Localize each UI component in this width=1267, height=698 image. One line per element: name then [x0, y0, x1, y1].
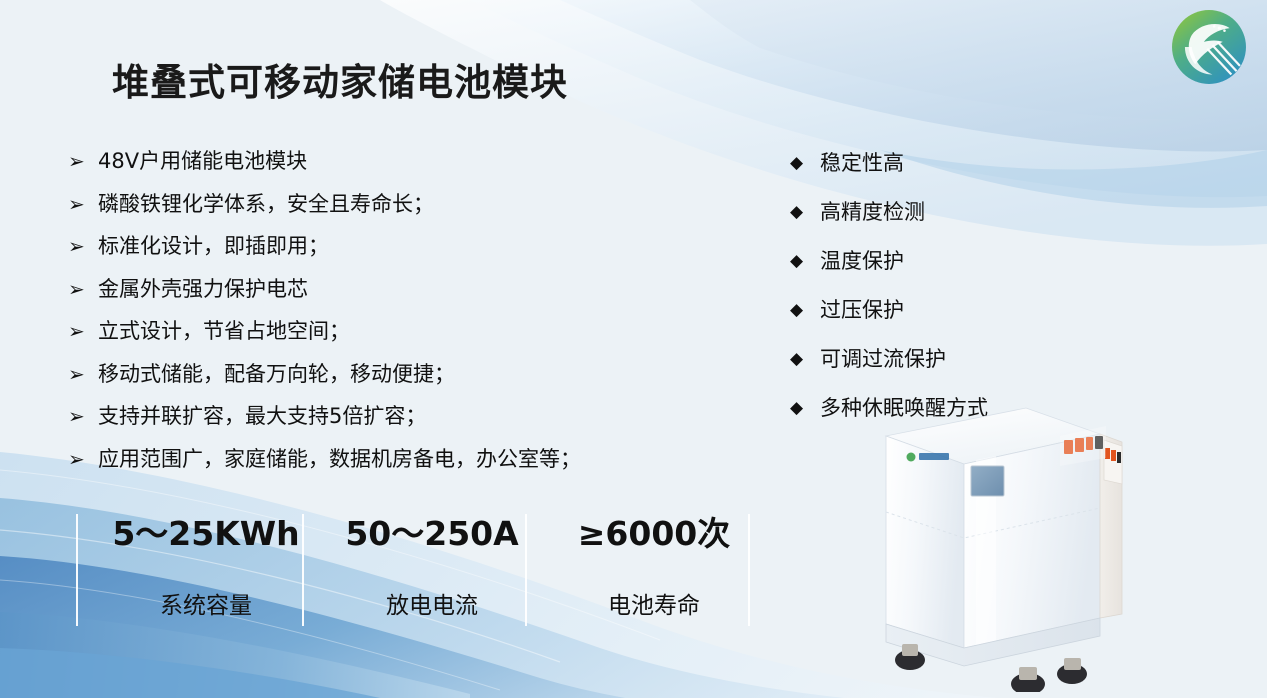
diamond-bullet-icon: ◆ [790, 148, 820, 178]
list-item: ➢ 支持并联扩容，最大支持5倍扩容； [68, 401, 708, 431]
list-item: ➢ 应用范围广，家庭储能，数据机房备电，办公室等； [68, 444, 708, 474]
arrow-bullet-icon: ➢ [68, 189, 98, 219]
spec-label: 电池寿命 [544, 586, 764, 626]
list-item: ◆ 高精度检测 [790, 197, 1080, 227]
diamond-bullet-icon: ◆ [790, 246, 820, 276]
list-item-label: 立式设计，节省占地空间； [98, 316, 350, 346]
specs-summary: 5～25KWh 系统容量 50～250A 放电电流 ≥6000次 电池寿命 [78, 508, 768, 626]
spec-value: ≥6000次 [544, 508, 764, 560]
arrow-bullet-icon: ➢ [68, 231, 98, 261]
arrow-bullet-icon: ➢ [68, 359, 98, 389]
list-item: ◆ 过压保护 [790, 295, 1080, 325]
list-item: ➢ 立式设计，节省占地空间； [68, 316, 708, 346]
diamond-bullet-icon: ◆ [790, 295, 820, 325]
page-title: 堆叠式可移动家储电池模块 [112, 52, 568, 106]
list-item: ➢ 移动式储能，配备万向轮，移动便捷； [68, 359, 708, 389]
spec-divider [748, 514, 750, 626]
list-item-label: 稳定性高 [820, 148, 904, 178]
slide-canvas: 堆叠式可移动家储电池模块 ➢ 48V户用储能电池模块 ➢ 磷酸铁锂化学体系，安全… [0, 0, 1267, 698]
diamond-bullet-icon: ◆ [790, 393, 820, 423]
list-item-label: 应用范围广，家庭储能，数据机房备电，办公室等； [98, 444, 581, 474]
list-item-label: 支持并联扩容，最大支持5倍扩容； [98, 401, 426, 431]
product-lcd-display [971, 466, 1004, 496]
list-item: ➢ 标准化设计，即插即用； [68, 231, 708, 261]
spec-label: 放电电流 [322, 586, 542, 626]
list-item-label: 过压保护 [820, 295, 904, 325]
spec-label: 系统容量 [96, 586, 316, 626]
list-item: ➢ 48V户用储能电池模块 [68, 146, 708, 176]
spec-value: 50～250A [322, 508, 542, 560]
spec-item-current: 50～250A 放电电流 [322, 508, 542, 626]
spec-divider [302, 514, 304, 626]
arrow-bullet-icon: ➢ [68, 146, 98, 176]
spec-divider [525, 514, 527, 626]
arrow-bullet-icon: ➢ [68, 401, 98, 431]
spec-value: 5～25KWh [96, 508, 316, 560]
arrow-bullet-icon: ➢ [68, 274, 98, 304]
list-item: ➢ 磷酸铁锂化学体系，安全且寿命长； [68, 189, 708, 219]
diamond-bullet-icon: ◆ [790, 197, 820, 227]
spec-item-cycle-life: ≥6000次 电池寿命 [544, 508, 764, 626]
diamond-bullet-icon: ◆ [790, 344, 820, 374]
arrow-bullet-icon: ➢ [68, 444, 98, 474]
spec-divider [76, 514, 78, 626]
list-item-label: 移动式储能，配备万向轮，移动便捷； [98, 359, 455, 389]
list-item: ◆ 可调过流保护 [790, 344, 1080, 374]
list-item-label: 磷酸铁锂化学体系，安全且寿命长； [98, 189, 434, 219]
list-item: ◆ 稳定性高 [790, 148, 1080, 178]
list-item-label: 金属外壳强力保护电芯 [98, 274, 308, 304]
list-item-label: 温度保护 [820, 246, 904, 276]
features-left-list: ➢ 48V户用储能电池模块 ➢ 磷酸铁锂化学体系，安全且寿命长； ➢ 标准化设计… [68, 146, 708, 486]
list-item-label: 标准化设计，即插即用； [98, 231, 329, 261]
product-image-battery-cabinet [876, 392, 1126, 692]
list-item-label: 高精度检测 [820, 197, 925, 227]
list-item-label: 可调过流保护 [820, 344, 946, 374]
list-item-label: 48V户用储能电池模块 [98, 146, 307, 176]
list-item: ➢ 金属外壳强力保护电芯 [68, 274, 708, 304]
company-logo-icon [1166, 4, 1252, 90]
product-terminal-panel [1104, 440, 1122, 484]
arrow-bullet-icon: ➢ [68, 316, 98, 346]
spec-item-capacity: 5～25KWh 系统容量 [96, 508, 316, 626]
list-item: ◆ 温度保护 [790, 246, 1080, 276]
